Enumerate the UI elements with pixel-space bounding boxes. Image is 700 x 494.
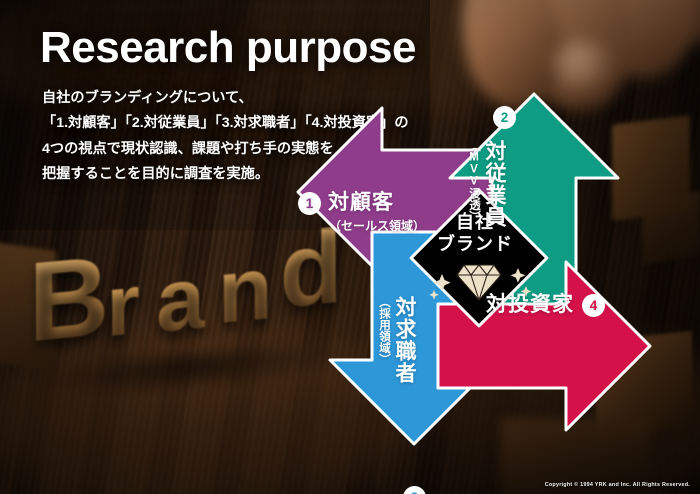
slide-root: B r a n d Research purpose 自社のブランディングについ…: [0, 0, 700, 494]
center-brand-label: 自社 ブランド: [412, 212, 538, 256]
four-perspective-diagram: 自社 ブランド 1 対顧客 （セールス領域） 2 （MVV浸透） 対従業員 （採…: [290, 88, 658, 450]
center-line-2: ブランド: [412, 234, 538, 256]
arrow-number-badge: 2: [493, 106, 516, 129]
page-title: Research purpose: [40, 26, 416, 70]
copyright-notice: Copyright © 1994 YRK and Inc. All Rights…: [545, 482, 690, 488]
diagram-shapes: [290, 88, 658, 450]
center-line-1: 自社: [412, 212, 538, 234]
